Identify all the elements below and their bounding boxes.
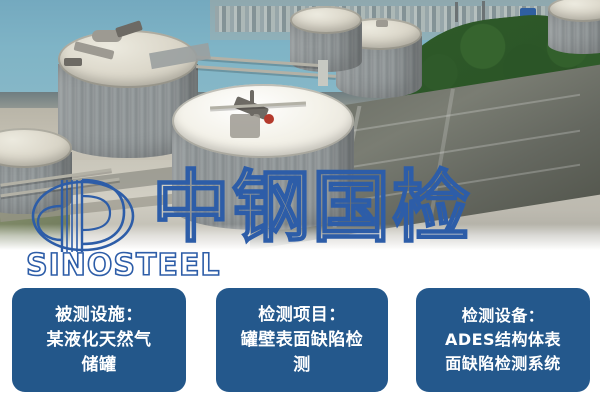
caption-inspection-equipment-label: 检测设备： ADES结构体表 面缺陷检测系统: [445, 304, 561, 376]
tank-side-ladder: [64, 58, 82, 66]
watermark-english-text: SINOSTEEL: [26, 248, 221, 283]
tank-top-structure: [230, 114, 260, 138]
caption-facility-label: 被测设施： 某液化天然气 储罐: [47, 303, 152, 378]
far-crane-mast: [455, 2, 458, 22]
caption-box-facility: 被测设施： 某液化天然气 储罐: [12, 288, 186, 392]
storage-tank-right-edge: [548, 0, 600, 60]
caption-row: 被测设施： 某液化天然气 储罐 检测项目： 罐壁表面缺陷检 测 检测设备： AD…: [0, 288, 600, 394]
photo-bottom-fade: [0, 224, 600, 250]
page-root: 中钢国检 SINOSTEEL 被测设施： 某液化天然气 储罐 检测项目： 罐壁表…: [0, 0, 600, 400]
tank-top-equipment: [376, 20, 388, 27]
lng-terminal-photo: [0, 0, 600, 250]
tank-top-mast: [250, 90, 254, 116]
caption-box-inspection-equipment: 检测设备： ADES结构体表 面缺陷检测系统: [416, 288, 590, 392]
tank-top-marker-red: [264, 114, 274, 124]
vent-stack: [318, 60, 328, 86]
caption-box-inspection-item: 检测项目： 罐壁表面缺陷检 测: [216, 288, 388, 392]
caption-inspection-item-label: 检测项目： 罐壁表面缺陷检 测: [241, 303, 364, 378]
